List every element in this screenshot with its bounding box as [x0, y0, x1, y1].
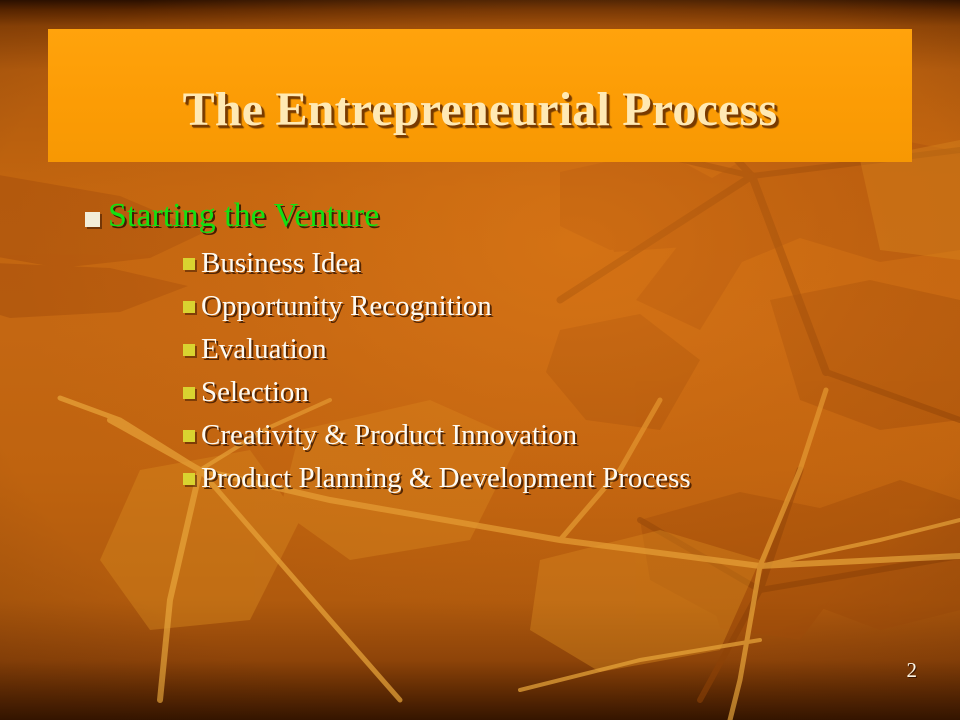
- presentation-slide: The Entrepreneurial Process Starting the…: [0, 0, 960, 720]
- bullet-item-level2[interactable]: Business Idea: [0, 244, 960, 287]
- bullet-square-icon: [183, 258, 195, 270]
- bullet-square-icon: [183, 430, 195, 442]
- bullet-square-icon: [85, 212, 100, 227]
- bullet-list: Starting the Venture Business Idea Oppor…: [0, 196, 960, 502]
- title-band: The Entrepreneurial Process: [48, 29, 912, 162]
- bullet-item-level2[interactable]: Opportunity Recognition: [0, 287, 960, 330]
- bullet-text: Selection: [201, 373, 309, 411]
- bullet-text: Opportunity Recognition: [201, 287, 492, 325]
- bullet-item-level2[interactable]: Selection: [0, 373, 960, 416]
- bullet-item-level2[interactable]: Creativity & Product Innovation: [0, 416, 960, 459]
- bullet-square-icon: [183, 473, 195, 485]
- bullet-text: Starting the Venture: [108, 196, 379, 236]
- bullet-item-level2[interactable]: Product Planning & Development Process: [0, 459, 960, 502]
- bullet-square-icon: [183, 387, 195, 399]
- slide-title: The Entrepreneurial Process: [48, 86, 912, 134]
- bullet-square-icon: [183, 344, 195, 356]
- bullet-square-icon: [183, 301, 195, 313]
- bullet-item-level2[interactable]: Evaluation: [0, 330, 960, 373]
- slide-page-number: 2: [907, 658, 918, 683]
- bullet-text: Product Planning & Development Process: [201, 459, 691, 497]
- bullet-text: Creativity & Product Innovation: [201, 416, 577, 454]
- bullet-text: Business Idea: [201, 244, 361, 282]
- bullet-text: Evaluation: [201, 330, 327, 368]
- bullet-item-level1[interactable]: Starting the Venture: [0, 196, 960, 244]
